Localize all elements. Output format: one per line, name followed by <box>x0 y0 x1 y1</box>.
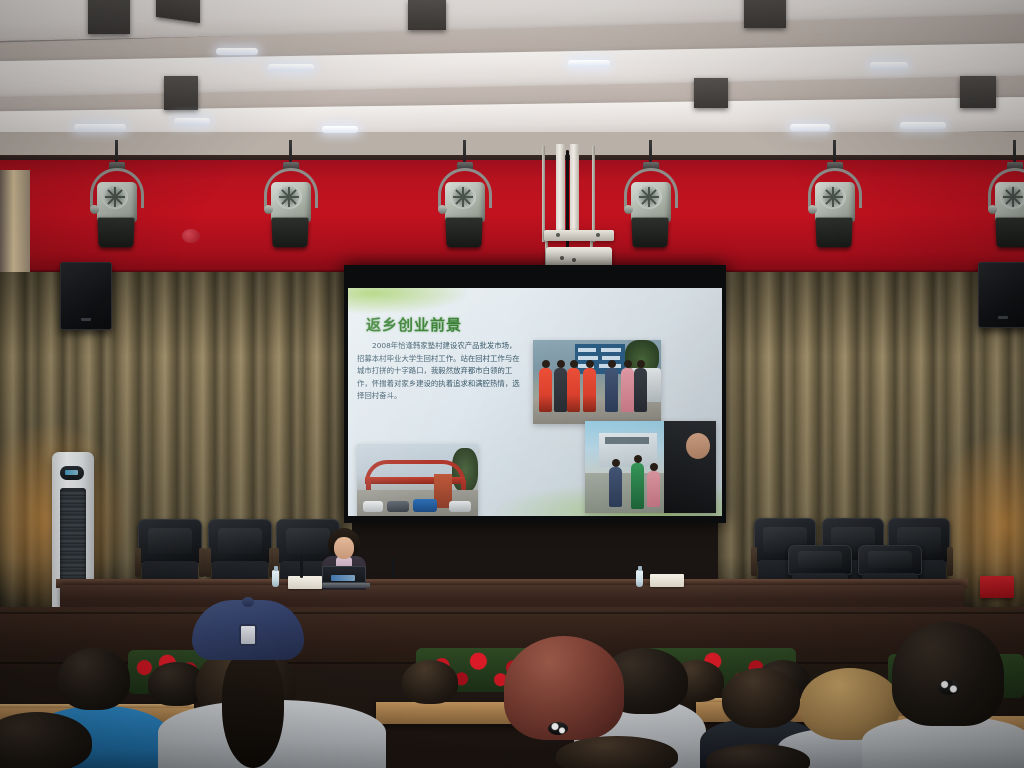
stage-front-trim <box>0 612 1024 614</box>
downlight-2 <box>74 124 126 131</box>
name-card-right <box>650 574 684 587</box>
auditorium-scene: 返乡创业前景 2008年恰逢韩家塾村建设农产品批发市场，招募本村毕业大学生回村工… <box>0 0 1024 768</box>
light-barndoor <box>445 218 482 248</box>
audience-head-dark-1 <box>722 668 800 728</box>
light-knob <box>264 205 273 214</box>
audience-scrunchie-red-hair <box>548 722 568 735</box>
light-fins <box>276 185 302 209</box>
downlight-6 <box>322 126 358 133</box>
chair-back <box>788 545 852 575</box>
light-fins <box>1000 185 1024 209</box>
photo-person-red-2 <box>567 368 580 412</box>
ceiling-box-4 <box>744 0 786 28</box>
ac-display <box>60 466 84 480</box>
downlight-9 <box>216 48 258 55</box>
light-barndoor <box>97 218 134 248</box>
audience-baseball-cap[interactable] <box>192 600 304 676</box>
photo-car-1 <box>363 501 383 512</box>
light-knob <box>90 205 99 214</box>
chair-arm <box>751 547 757 576</box>
wall-speaker-left <box>60 262 112 330</box>
photo-person-dark-1 <box>554 368 567 412</box>
photo-car-3 <box>413 499 437 512</box>
chair-back <box>138 519 202 564</box>
projector-indicator-2 <box>572 258 576 262</box>
water-bottle-2 <box>636 570 643 587</box>
ceiling-box-6 <box>694 78 728 108</box>
chair-back <box>208 519 272 564</box>
stage-light-1 <box>88 160 146 260</box>
left-wall-sliver <box>0 170 30 280</box>
downlight-4 <box>568 60 610 67</box>
light-fins <box>102 185 128 209</box>
stage-light-5 <box>806 160 864 260</box>
audience-head-back-2 <box>402 660 458 704</box>
photo-person-dark-2 <box>634 368 647 412</box>
light-barndoor <box>815 218 852 248</box>
photo-person-backpack <box>609 467 622 507</box>
slide-body-text: 2008年恰逢韩家塾村建设农产品批发市场，招募本村毕业大学生回村工作。站在回村工… <box>357 340 523 403</box>
photo-banner <box>605 437 649 444</box>
photo-car-2 <box>387 501 409 512</box>
downlight-3 <box>174 118 210 125</box>
photo-person-green <box>631 463 644 509</box>
downlight-5 <box>870 62 908 69</box>
light-knob <box>438 205 447 214</box>
light-knob <box>988 205 997 214</box>
photo-signboard <box>575 344 625 374</box>
photo-person-pink-1 <box>621 368 634 412</box>
photo-person-red-1 <box>539 368 552 412</box>
slide-title: 返乡创业前景 <box>366 314 462 335</box>
projector-pipe-2 <box>570 144 579 236</box>
red-storage-box <box>980 576 1014 598</box>
slide-photo-handshake <box>533 340 661 424</box>
audience-hair-clip <box>938 680 960 695</box>
projector-mount-plate <box>544 230 614 241</box>
ceiling-box-1 <box>88 0 130 34</box>
ceiling <box>0 0 1024 175</box>
chair-arm <box>135 548 141 577</box>
light-fins <box>450 185 476 209</box>
table-microphone-left <box>300 556 303 578</box>
downlight-1 <box>268 64 314 71</box>
speaker-grill <box>998 316 1008 319</box>
stage-light-6 <box>986 160 1024 260</box>
audience-head-clip-person <box>892 622 1004 726</box>
audience-head-foreground-mid <box>556 736 678 768</box>
photo-person-red-3 <box>583 368 596 412</box>
light-barndoor <box>995 218 1024 248</box>
speaker-grill <box>81 318 91 321</box>
downlight-8 <box>900 122 946 129</box>
name-card-presenter <box>288 576 322 589</box>
table-microphone-right <box>392 558 395 578</box>
chair-arm <box>205 548 211 577</box>
wall-speaker-right <box>978 262 1024 328</box>
cap-clasp <box>239 624 257 646</box>
projector-indicator-1 <box>560 256 564 260</box>
laptop-keyboard <box>318 583 370 588</box>
stage-light-3 <box>436 160 494 260</box>
audience-head-blue-person <box>58 648 130 710</box>
chair-back <box>858 545 922 575</box>
red-valance <box>0 160 1024 275</box>
projection-screen[interactable]: 返乡创业前景 2008年恰逢韩家塾村建设农产品批发市场，招募本村毕业大学生回村工… <box>348 288 722 516</box>
mount-bolt-1 <box>556 233 560 237</box>
ceiling-box-7 <box>960 76 996 108</box>
mount-bolt-2 <box>596 233 600 237</box>
ceiling-box-3 <box>164 76 198 110</box>
slide-photo-market-gate <box>357 444 478 516</box>
photo-foreground-face <box>686 433 710 459</box>
cap-button <box>242 597 254 607</box>
water-bottle-1 <box>272 570 279 587</box>
chair-arm <box>947 547 953 576</box>
downlight-7 <box>790 124 830 131</box>
light-barndoor <box>271 218 308 248</box>
slide-photo-street <box>585 421 716 513</box>
light-fins <box>820 185 846 209</box>
red-balloon <box>182 229 200 243</box>
presenter-face <box>334 537 354 559</box>
projector-pipe-1 <box>556 144 565 236</box>
projector-rod-left <box>542 146 545 242</box>
stage-light-2 <box>262 160 320 260</box>
projector-rod-right <box>592 146 595 242</box>
photo-car-4 <box>449 501 471 512</box>
presenter-laptop[interactable] <box>318 566 370 588</box>
laptop-screen <box>322 566 366 583</box>
ceiling-box-5 <box>408 0 446 30</box>
light-knob <box>808 205 817 214</box>
photo-person-blue-1 <box>605 368 618 412</box>
slide-accent-top <box>348 288 468 314</box>
photo-person-light <box>647 471 660 507</box>
